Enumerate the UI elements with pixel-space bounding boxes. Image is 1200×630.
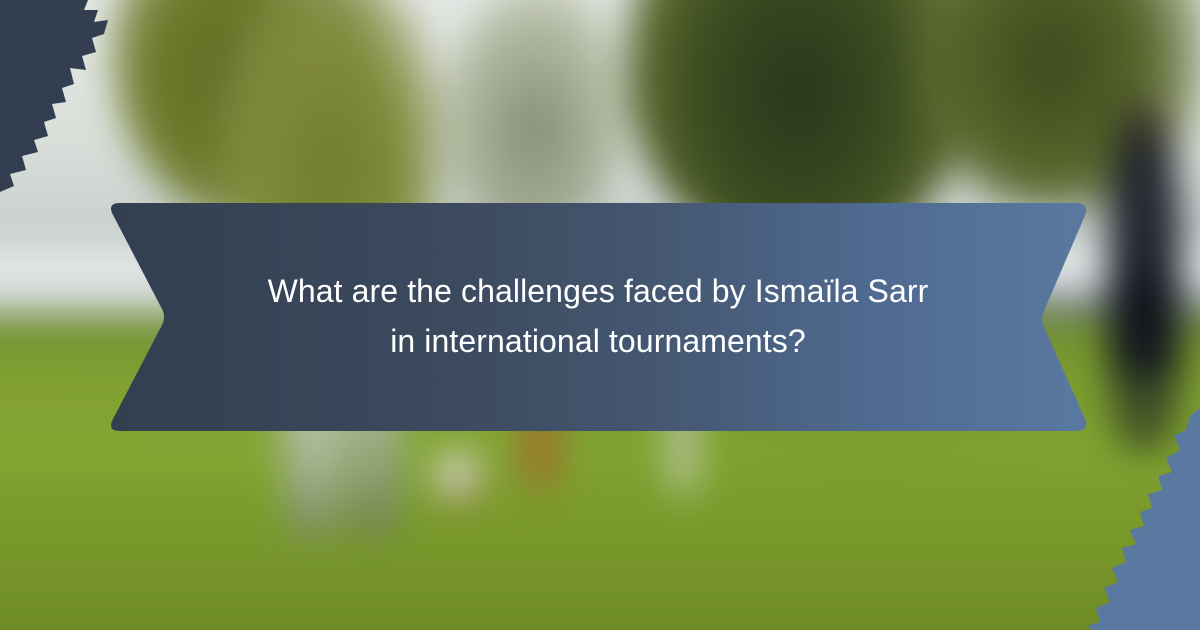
photo-player-right-shorts — [1112, 278, 1178, 376]
title-line-1: What are the challenges faced by Ismaïla… — [268, 267, 929, 317]
title-banner: What are the challenges faced by Ismaïla… — [108, 199, 1088, 435]
title-line-2: in international tournaments? — [390, 317, 806, 367]
social-share-card: What are the challenges faced by Ismaïla… — [0, 0, 1200, 630]
photo-ball — [435, 450, 483, 506]
banner-text-block: What are the challenges faced by Ismaïla… — [108, 199, 1088, 435]
